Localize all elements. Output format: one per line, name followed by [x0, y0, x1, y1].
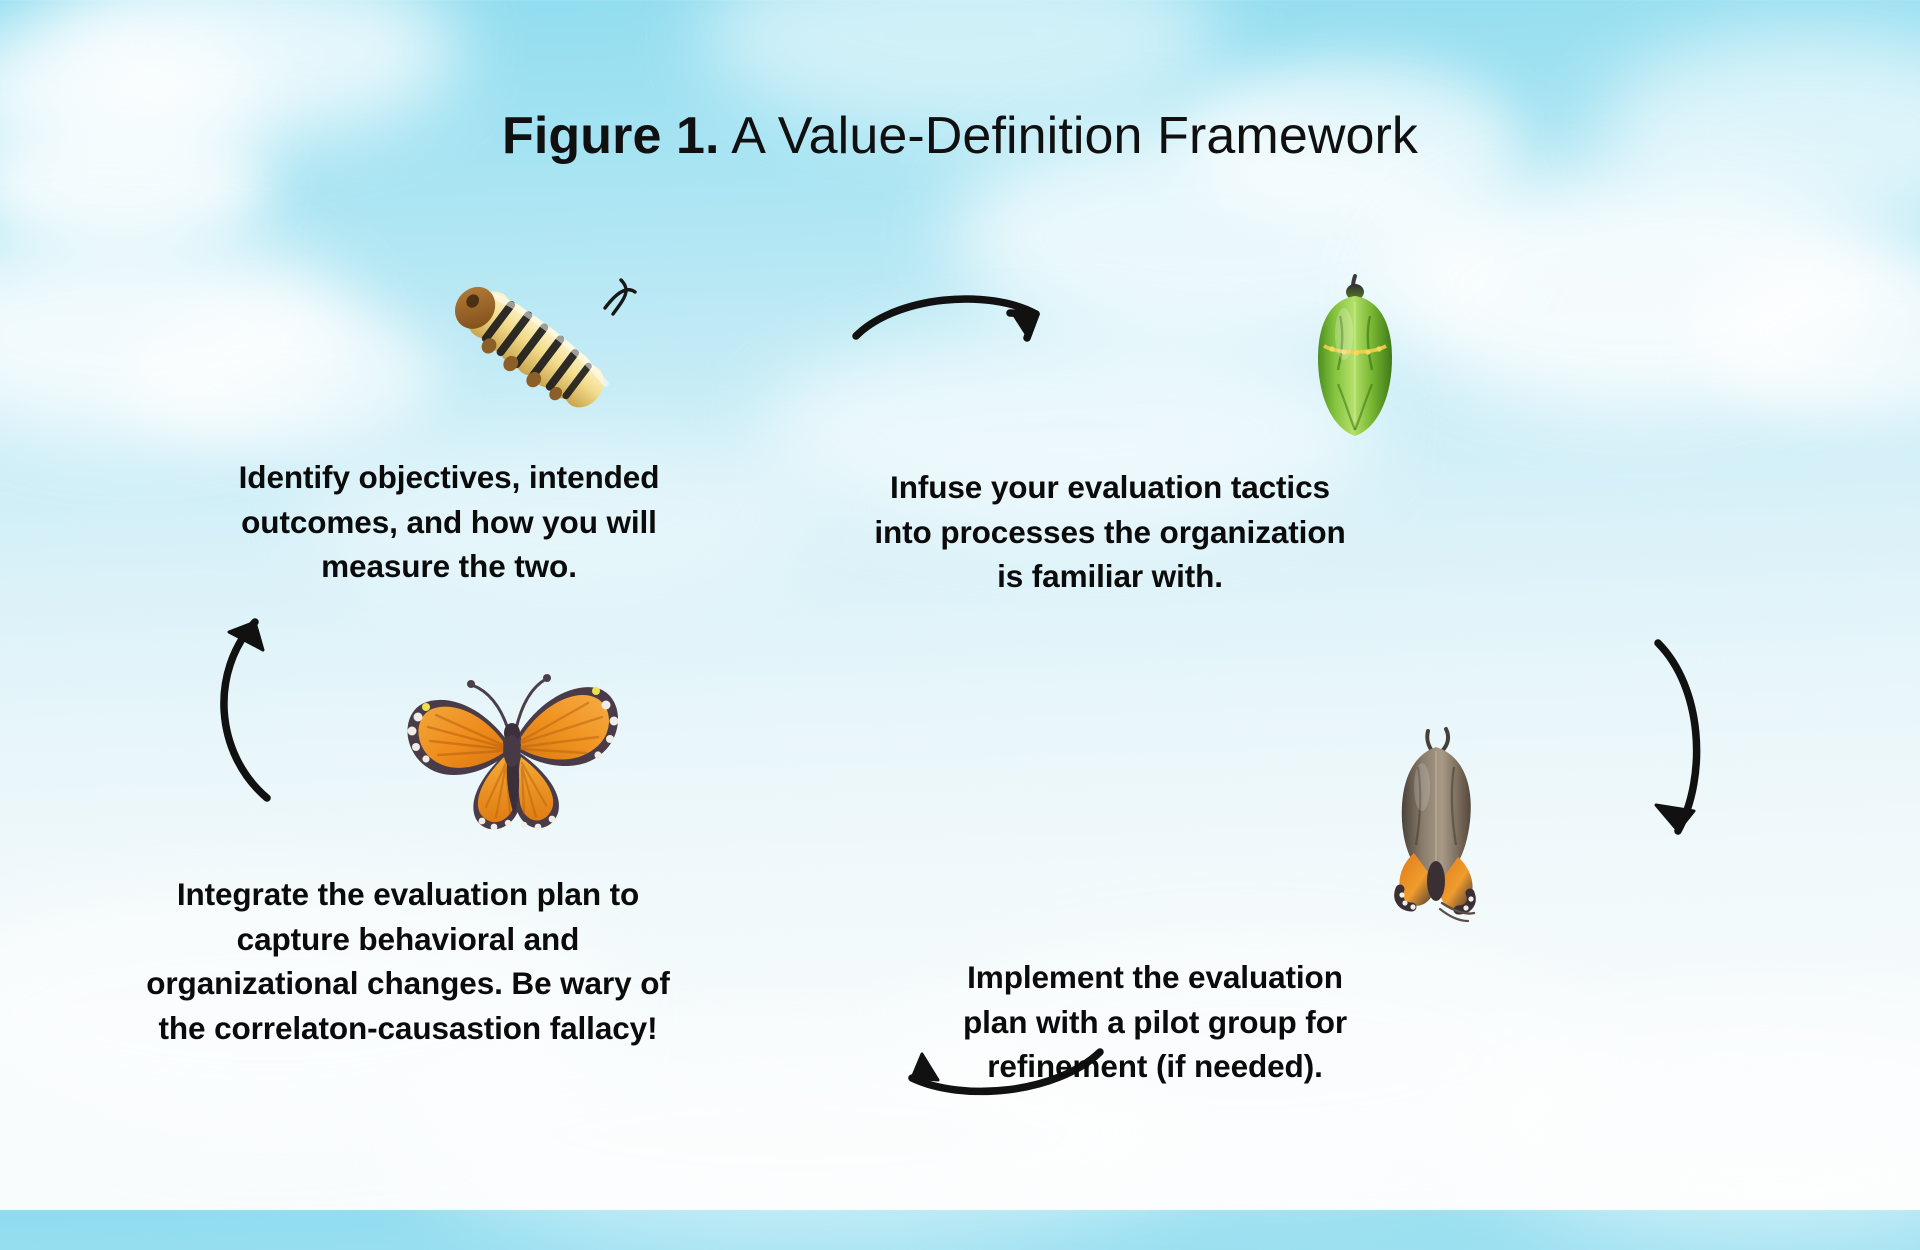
- cloud-shape: [1380, 170, 1900, 410]
- step-4-text: Integrate the evaluation plan to capture…: [108, 872, 708, 1051]
- monarch-butterfly-icon: [390, 655, 630, 845]
- step-2-line: is familiar with.: [840, 554, 1380, 599]
- step-2-text: Infuse your evaluation tactics into proc…: [840, 465, 1380, 599]
- caterpillar-icon: [435, 268, 645, 438]
- arrow-step4-to-step1: [195, 610, 295, 820]
- step-4-line: the correlaton-causastion fallacy!: [108, 1006, 708, 1051]
- step-4-line: organizational changes. Be wary of: [108, 961, 708, 1006]
- chrysalis-icon: [1300, 272, 1410, 452]
- step-1-text: Identify objectives, intended outcomes, …: [184, 455, 714, 589]
- figure-title-text: A Value-Definition Framework: [720, 107, 1418, 165]
- arrow-step2-to-step3: [1638, 635, 1728, 865]
- emerging-butterfly-icon: [1370, 725, 1510, 925]
- step-3-line: refinement (if needed).: [920, 1044, 1390, 1089]
- step-3-line: Implement the evaluation: [920, 955, 1390, 1000]
- step-1-line: measure the two.: [184, 544, 714, 589]
- figure-title-label: Figure 1.: [502, 107, 720, 165]
- step-4-line: capture behavioral and: [108, 917, 708, 962]
- arrow-step1-to-step2: [850, 290, 1070, 360]
- step-3-line: plan with a pilot group for: [920, 1000, 1390, 1045]
- step-2-line: Infuse your evaluation tactics: [840, 465, 1380, 510]
- cloud-shape: [1450, 1000, 1920, 1240]
- step-2-line: into processes the organization: [840, 510, 1380, 555]
- cloud-shape: [0, 230, 360, 440]
- cloud-shape: [1700, 250, 1920, 420]
- step-4-line: Integrate the evaluation plan to: [108, 872, 708, 917]
- step-1-line: Identify objectives, intended: [184, 455, 714, 500]
- step-1-line: outcomes, and how you will: [184, 500, 714, 545]
- figure-title: Figure 1. A Value-Definition Framework: [0, 106, 1920, 166]
- step-3-text: Implement the evaluation plan with a pil…: [920, 955, 1390, 1089]
- cloud-shape: [120, 300, 440, 450]
